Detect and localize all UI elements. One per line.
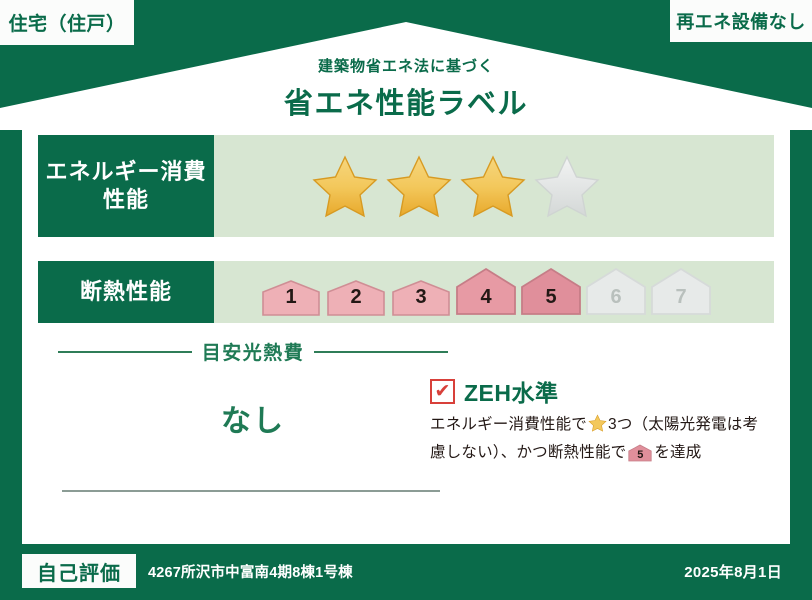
grade-badge-value: 6 [585, 286, 647, 309]
star-empty-icon [533, 153, 601, 219]
grade-badge-value: 7 [650, 286, 712, 309]
zeh-heading: ✔ ZEH水準 [430, 374, 559, 408]
grade-badge-inline: 5 [628, 444, 652, 462]
zeh-checkbox[interactable]: ✔ [430, 379, 455, 404]
row-energy-value [214, 135, 774, 237]
row-insulation-label: 断熱性能 [38, 261, 214, 323]
issue-date: 2025年8月1日 [684, 561, 782, 582]
grade-badge: 7 [650, 267, 712, 317]
star-filled-icon [385, 153, 453, 219]
grade-badge-value: 1 [260, 286, 322, 309]
star-filled-icon [459, 153, 527, 219]
row-energy-performance: エネルギー消費性能 [38, 135, 774, 237]
grade-badge-value: 2 [325, 286, 387, 309]
zeh-desc-part4: を達成 [654, 444, 701, 461]
grade-badge-value: 5 [520, 286, 582, 309]
grade-badge-inline-value: 5 [628, 450, 652, 461]
row-insulation-performance: 断熱性能 1 2 3 [38, 261, 774, 323]
grade-badge-value: 3 [390, 286, 452, 309]
star-filled-icon [311, 153, 379, 219]
zeh-description: エネルギー消費性能で3つ（太陽光発電は考慮しない）、かつ断熱性能で5を達成 [430, 411, 770, 467]
row-insulation-value: 1 2 3 4 [214, 261, 774, 323]
utility-cost-value: なし [58, 396, 448, 440]
badge-building-type: 住宅（住戸） [0, 0, 134, 45]
grade-badge: 1 [260, 279, 322, 317]
star-rating [311, 153, 601, 219]
grade-badge: 2 [325, 279, 387, 317]
main-panel: エネルギー消費性能 [22, 116, 790, 544]
utility-cost-divider [62, 490, 440, 492]
energy-performance-label: 住宅（住戸） 再エネ設備なし 建築物省エネ法に基づく 省エネ性能ラベル エネルギ… [0, 0, 812, 600]
badge-renewable-energy: 再エネ設備なし [670, 0, 812, 42]
title-subtitle: 建築物省エネ法に基づく [0, 55, 812, 76]
zeh-desc-part2: 3つ（太陽光発電 [608, 416, 727, 433]
utility-cost-heading: 目安光熱費 [58, 338, 448, 365]
grade-badge: 3 [390, 279, 452, 317]
utility-cost-heading-label: 目安光熱費 [202, 338, 305, 365]
grade-badge: 5 [520, 267, 582, 317]
self-evaluation-badge: 自己評価 [22, 554, 136, 588]
badge-building-type-label: 住宅（住戸） [8, 9, 125, 36]
property-address: 4267所沢市中富南4期8棟1号棟 [148, 561, 353, 582]
zeh-desc-part1: エネルギー消費性能で [430, 416, 587, 433]
insulation-grade-scale: 1 2 3 4 [260, 267, 712, 317]
star-filled-icon [588, 414, 607, 432]
heading-rule-right [314, 351, 448, 353]
row-energy-label: エネルギー消費性能 [38, 135, 214, 237]
grade-badge: 6 [585, 267, 647, 317]
heading-rule-left [58, 351, 192, 353]
badge-renewable-energy-label: 再エネ設備なし [676, 8, 806, 34]
label-title: 建築物省エネ法に基づく 省エネ性能ラベル [0, 55, 812, 122]
zeh-title: ZEH水準 [464, 374, 559, 408]
check-icon: ✔ [435, 382, 451, 401]
grade-badge: 4 [455, 267, 517, 317]
grade-badge-value: 4 [455, 286, 517, 309]
label-footer: 自己評価 4267所沢市中富南4期8棟1号棟 2025年8月1日 [0, 544, 812, 600]
